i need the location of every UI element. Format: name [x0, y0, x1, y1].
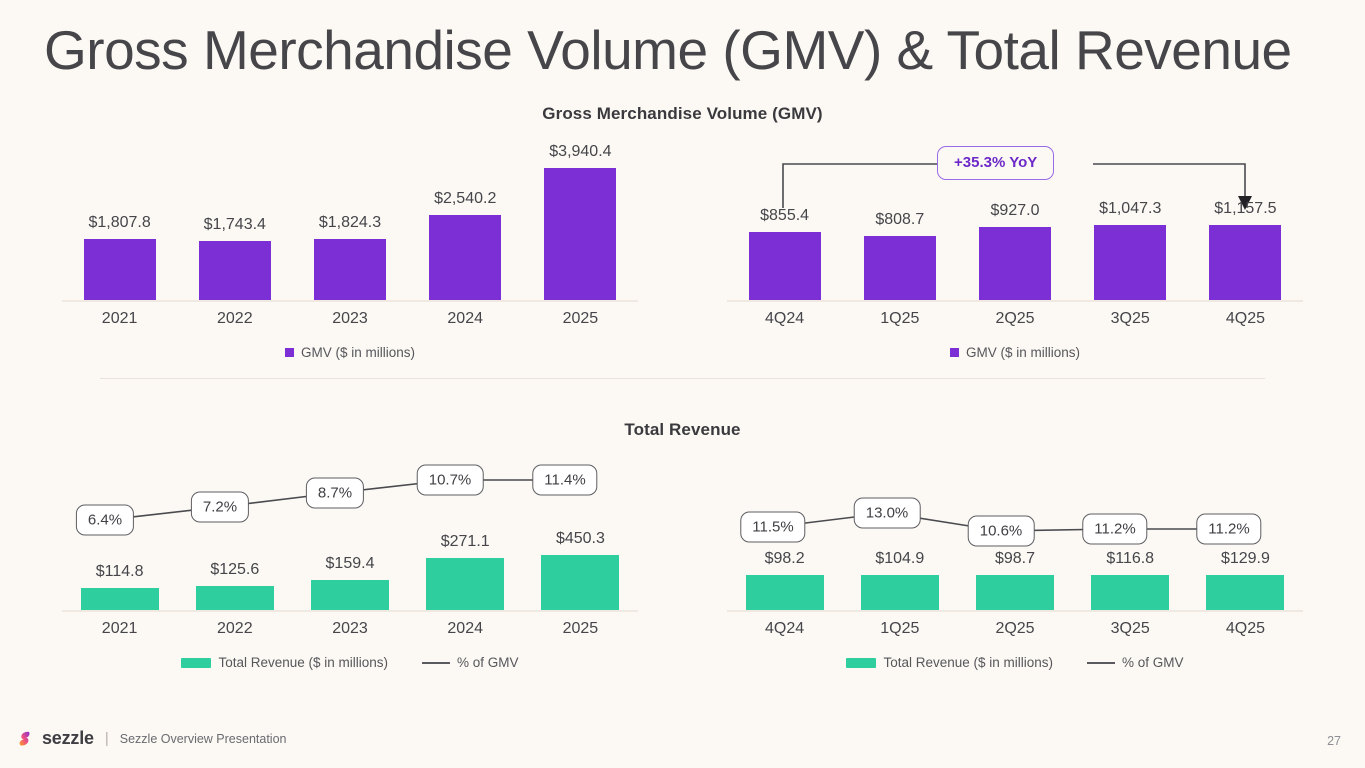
- sezzle-logo-icon: [16, 730, 33, 747]
- category-label: 4Q25: [1188, 310, 1303, 328]
- legend-swatch-rect-icon: [181, 658, 211, 668]
- bar: [314, 239, 386, 300]
- footer: sezzle | Sezzle Overview Presentation 27: [0, 716, 1365, 768]
- bar-slot: $450.3: [523, 530, 638, 610]
- category-label: 4Q25: [1188, 620, 1303, 638]
- legend-item-gmv: GMV ($ in millions): [285, 345, 415, 360]
- category-label: 3Q25: [1073, 310, 1188, 328]
- bar-value-label: $2,540.2: [434, 190, 496, 208]
- bar-slot: $1,743.4: [177, 140, 292, 300]
- chart-legend: GMV ($ in millions): [40, 345, 660, 360]
- chart-legend: Total Revenue ($ in millions) % of GMV: [705, 655, 1325, 670]
- category-label: 2021: [62, 310, 177, 328]
- category-label: 2024: [408, 310, 523, 328]
- bar-slot: $116.8: [1073, 550, 1188, 610]
- bar-slot: $271.1: [408, 530, 523, 610]
- section-heading-revenue: Total Revenue: [0, 420, 1365, 440]
- bar: [541, 555, 619, 610]
- pct-of-gmv-pill: 11.5%: [740, 512, 805, 543]
- bar-slot: $927.0: [957, 200, 1072, 300]
- pct-of-gmv-pill: 7.2%: [191, 492, 249, 523]
- bar-value-label: $116.8: [1106, 550, 1154, 568]
- bar: [426, 558, 504, 610]
- pct-of-gmv-pill: 11.4%: [532, 465, 597, 496]
- bar-value-label: $159.4: [326, 555, 375, 573]
- bar-value-label: $1,743.4: [204, 216, 266, 234]
- bar-value-label: $927.0: [991, 202, 1040, 220]
- category-label: 2023: [292, 310, 407, 328]
- bar-slot: $98.2: [727, 550, 842, 610]
- footer-caption: Sezzle Overview Presentation: [120, 732, 287, 746]
- legend-label: % of GMV: [1122, 655, 1184, 670]
- footer-separator: |: [105, 730, 109, 747]
- legend-item-pct-of-gmv: % of GMV: [422, 655, 519, 670]
- category-label: 2025: [523, 620, 638, 638]
- bar-value-label: $98.2: [765, 550, 805, 568]
- bar: [746, 575, 824, 610]
- legend-swatch-square-icon: [285, 348, 294, 357]
- category-labels: 4Q241Q252Q253Q254Q25: [727, 310, 1303, 328]
- bar: [979, 227, 1051, 300]
- legend-label: GMV ($ in millions): [966, 345, 1080, 360]
- bar-slot: $855.4: [727, 200, 842, 300]
- bar: [1209, 225, 1281, 300]
- pct-of-gmv-pill: 10.6%: [968, 516, 1035, 547]
- bar: [311, 580, 389, 610]
- footer-brand: sezzle | Sezzle Overview Presentation: [16, 728, 287, 749]
- page-number: 27: [1327, 734, 1341, 748]
- legend-label: Total Revenue ($ in millions): [883, 655, 1053, 670]
- axis-line: [727, 610, 1303, 612]
- category-labels: 20212022202320242025: [62, 310, 638, 328]
- chart-revenue-annual: 6.4%7.2%8.7%10.7%11.4% $114.8$125.6$159.…: [40, 455, 660, 690]
- bar-group: $98.2$104.9$98.7$116.8$129.9: [727, 550, 1303, 610]
- bar: [84, 239, 156, 300]
- chart-legend: GMV ($ in millions): [705, 345, 1325, 360]
- axis-line: [62, 610, 638, 612]
- legend-item-pct-of-gmv: % of GMV: [1087, 655, 1184, 670]
- legend-label: Total Revenue ($ in millions): [218, 655, 388, 670]
- legend-item-gmv: GMV ($ in millions): [950, 345, 1080, 360]
- chart-gmv-annual: $1,807.8$1,743.4$1,824.3$2,540.2$3,940.4…: [40, 140, 660, 370]
- bar-slot: $159.4: [292, 530, 407, 610]
- category-label: 2025: [523, 310, 638, 328]
- sezzle-wordmark: sezzle: [42, 728, 94, 749]
- bar: [1094, 225, 1166, 300]
- bar-slot: $98.7: [957, 550, 1072, 610]
- yoy-callout-label: +35.3% YoY: [937, 146, 1054, 180]
- category-label: 1Q25: [842, 310, 957, 328]
- bar-slot: $3,940.4: [523, 140, 638, 300]
- bar-group: $855.4$808.7$927.0$1,047.3$1,157.5: [727, 200, 1303, 300]
- bar-slot: $1,157.5: [1188, 200, 1303, 300]
- bar: [81, 588, 159, 610]
- category-label: 2023: [292, 620, 407, 638]
- bar-slot: $808.7: [842, 200, 957, 300]
- chart-revenue-quarterly: 11.5%13.0%10.6%11.2%11.2% $98.2$104.9$98…: [705, 455, 1325, 690]
- bar: [861, 575, 939, 610]
- chart-legend: Total Revenue ($ in millions) % of GMV: [40, 655, 660, 670]
- category-labels: 20212022202320242025: [62, 620, 638, 638]
- bar: [1091, 575, 1169, 610]
- bar-slot: $104.9: [842, 550, 957, 610]
- section-divider: [100, 378, 1265, 379]
- category-label: 2022: [177, 310, 292, 328]
- bar-value-label: $1,807.8: [88, 214, 150, 232]
- bar-value-label: $450.3: [556, 530, 605, 548]
- pct-of-gmv-pill: 11.2%: [1082, 514, 1147, 545]
- bar-value-label: $1,047.3: [1099, 200, 1161, 218]
- legend-swatch-square-icon: [950, 348, 959, 357]
- category-label: 3Q25: [1073, 620, 1188, 638]
- pct-of-gmv-pill: 13.0%: [854, 498, 921, 529]
- axis-line: [62, 300, 638, 302]
- category-label: 1Q25: [842, 620, 957, 638]
- bar-group: $114.8$125.6$159.4$271.1$450.3: [62, 530, 638, 610]
- bar: [196, 586, 274, 610]
- bar-slot: $2,540.2: [408, 140, 523, 300]
- legend-item-revenue: Total Revenue ($ in millions): [181, 655, 388, 670]
- bar-value-label: $98.7: [995, 550, 1035, 568]
- bar: [864, 236, 936, 300]
- legend-label: % of GMV: [457, 655, 519, 670]
- category-label: 2021: [62, 620, 177, 638]
- section-heading-gmv: Gross Merchandise Volume (GMV): [0, 104, 1365, 124]
- legend-swatch-line-icon: [422, 662, 450, 664]
- bar: [544, 168, 616, 300]
- bar-slot: $129.9: [1188, 550, 1303, 610]
- category-label: 4Q24: [727, 310, 842, 328]
- bar: [976, 575, 1054, 610]
- category-labels: 4Q241Q252Q253Q254Q25: [727, 620, 1303, 638]
- bar-value-label: $125.6: [210, 561, 259, 579]
- bar-value-label: $855.4: [760, 207, 809, 225]
- legend-swatch-rect-icon: [846, 658, 876, 668]
- axis-line: [727, 300, 1303, 302]
- bar-value-label: $129.9: [1221, 550, 1270, 568]
- bar-slot: $125.6: [177, 530, 292, 610]
- bar-value-label: $114.8: [96, 563, 144, 581]
- bar-group: $1,807.8$1,743.4$1,824.3$2,540.2$3,940.4: [62, 140, 638, 300]
- pct-of-gmv-pill: 8.7%: [306, 478, 364, 509]
- bar: [1206, 575, 1284, 610]
- category-label: 2022: [177, 620, 292, 638]
- category-label: 2Q25: [957, 310, 1072, 328]
- bar-value-label: $104.9: [875, 550, 924, 568]
- pct-of-gmv-pill: 10.7%: [417, 465, 484, 496]
- pct-of-gmv-pill: 11.2%: [1196, 514, 1261, 545]
- legend-label: GMV ($ in millions): [301, 345, 415, 360]
- bar-slot: $1,807.8: [62, 140, 177, 300]
- bar-value-label: $271.1: [441, 533, 490, 551]
- chart-gmv-quarterly: +35.3% YoY $855.4$808.7$927.0$1,047.3$1,…: [705, 140, 1325, 370]
- category-label: 2024: [408, 620, 523, 638]
- bar: [199, 241, 271, 300]
- category-label: 2Q25: [957, 620, 1072, 638]
- slide-root: Gross Merchandise Volume (GMV) & Total R…: [0, 0, 1365, 768]
- legend-swatch-line-icon: [1087, 662, 1115, 664]
- bar-slot: $114.8: [62, 530, 177, 610]
- bar: [749, 232, 821, 300]
- bar-slot: $1,047.3: [1073, 200, 1188, 300]
- legend-item-revenue: Total Revenue ($ in millions): [846, 655, 1053, 670]
- bar-slot: $1,824.3: [292, 140, 407, 300]
- bar-value-label: $3,940.4: [549, 143, 611, 161]
- bar-value-label: $1,157.5: [1214, 200, 1276, 218]
- bar-value-label: $808.7: [875, 211, 924, 229]
- bar-value-label: $1,824.3: [319, 214, 381, 232]
- bar: [429, 215, 501, 300]
- category-label: 4Q24: [727, 620, 842, 638]
- page-title: Gross Merchandise Volume (GMV) & Total R…: [44, 18, 1292, 82]
